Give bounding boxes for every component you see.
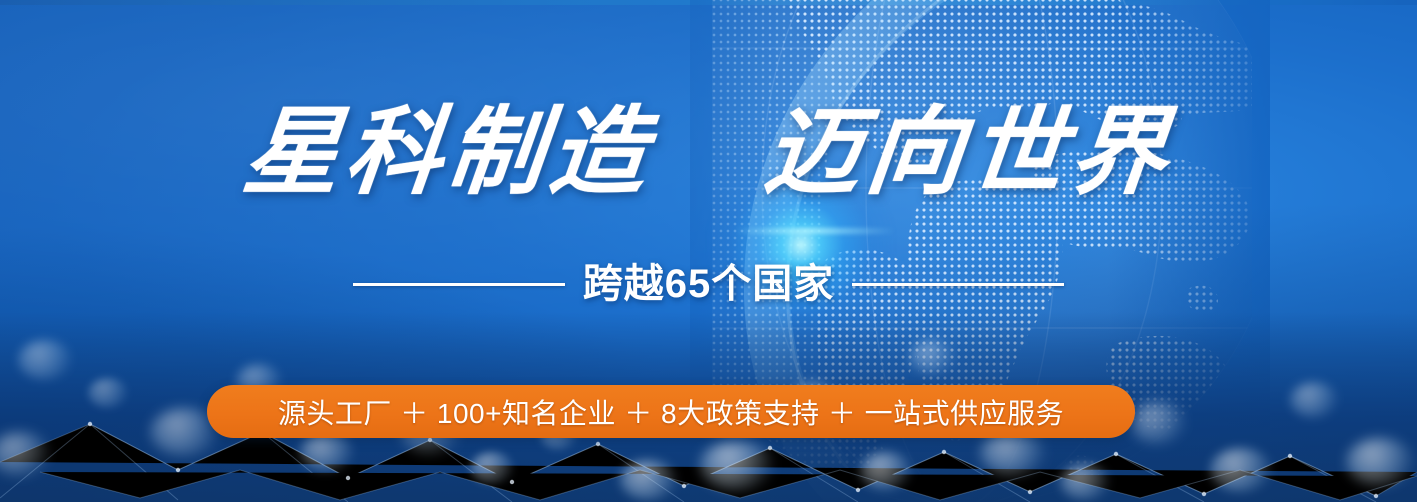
banner-headline: 星科制造 迈向世界 [0, 104, 1417, 200]
divider-rule-right [852, 283, 1064, 286]
divider-rule-left [353, 283, 565, 286]
promo-banner: 星科制造 迈向世界 跨越65个国家 源头工厂 ＋ 100+知名企业 ＋ 8大政策… [0, 0, 1417, 502]
banner-subtitle: 跨越65个国家 [583, 262, 835, 306]
subtitle-row: 跨越65个国家 [0, 262, 1417, 306]
headline-part-2: 迈向世界 [759, 95, 1179, 208]
feature-pill[interactable]: 源头工厂 ＋ 100+知名企业 ＋ 8大政策支持 ＋ 一站式供应服务 [207, 385, 1135, 438]
headline-part-1: 星科制造 [238, 95, 658, 208]
feature-pill-text: 源头工厂 ＋ 100+知名企业 ＋ 8大政策支持 ＋ 一站式供应服务 [278, 392, 1064, 432]
